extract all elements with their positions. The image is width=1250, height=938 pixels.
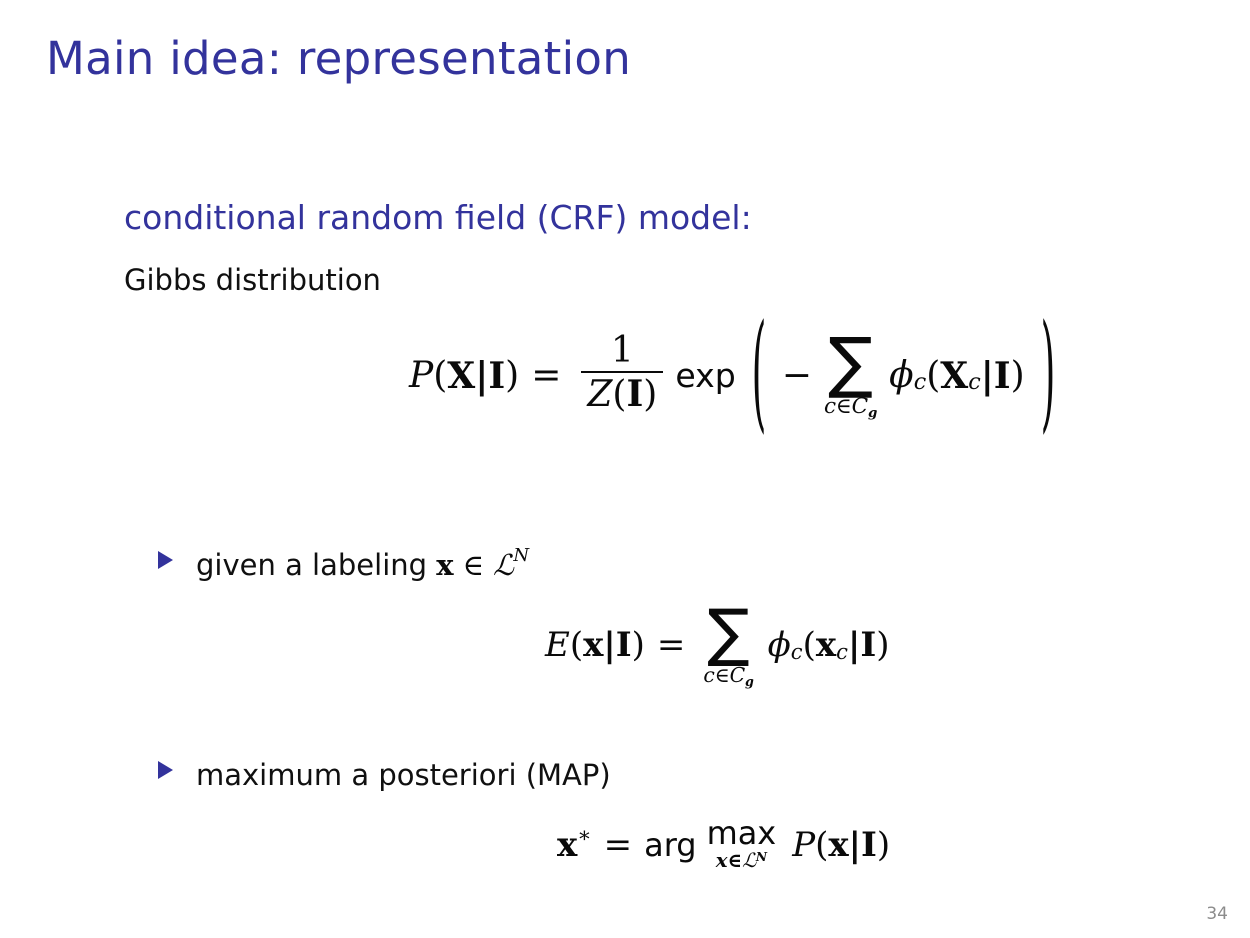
- symbol-X: X: [940, 355, 968, 397]
- arg-operator: arg: [644, 826, 696, 864]
- symbol-Z: Z: [587, 374, 612, 415]
- symbol-I: I: [861, 825, 877, 865]
- paren-close: ): [632, 625, 645, 665]
- equals-sign: =: [604, 825, 633, 865]
- big-paren-open: (: [751, 312, 766, 440]
- symbol-x: x: [816, 625, 836, 665]
- paren-close: ): [877, 825, 890, 865]
- symbol-I: I: [626, 373, 643, 415]
- symbol-x: x: [583, 625, 603, 665]
- bullet-label: maximum a posteriori (MAP): [196, 758, 611, 792]
- summation-operator: ∑ c∈Cg: [703, 604, 753, 687]
- list-item: given a labeling x ∈ ℒ N: [158, 548, 529, 582]
- summation-limit: c∈Cg: [824, 394, 877, 419]
- page-title: Main idea: representation: [46, 34, 631, 84]
- section-heading: conditional random field (CRF) model:: [124, 198, 752, 237]
- max-limit: x∈ℒN: [716, 848, 767, 872]
- equation-energy: E ( x | I ) = ∑ c∈Cg ϕ c ( x c | I ): [545, 604, 890, 687]
- star-superscript: ∗: [577, 822, 591, 847]
- section-subheading: Gibbs distribution: [124, 263, 381, 297]
- phi-subscript: c: [914, 369, 927, 395]
- symbol-I: I: [488, 355, 505, 397]
- summation-limit: c∈Cg: [703, 663, 753, 687]
- paren-close: ): [876, 625, 889, 665]
- big-paren-close: ): [1040, 312, 1055, 440]
- symbol-X: X: [447, 355, 475, 397]
- paren-open: (: [803, 625, 816, 665]
- conditional-bar: |: [849, 825, 861, 865]
- conditional-bar: |: [848, 625, 860, 665]
- equals-sign: =: [531, 355, 561, 396]
- sigma-icon: ∑: [828, 332, 873, 393]
- symbol-x: x: [557, 825, 577, 865]
- L-superscript-N: N: [513, 545, 529, 566]
- conditional-bar: |: [981, 355, 994, 397]
- symbol-I: I: [616, 625, 632, 665]
- bullet-label: given a labeling: [196, 548, 436, 582]
- page-number: 34: [1206, 904, 1228, 924]
- equals-sign: =: [657, 625, 686, 665]
- symbol-E: E: [545, 625, 570, 665]
- X-subscript: c: [968, 369, 981, 395]
- equation-gibbs-distribution: P ( X | I ) = 1 Z(I) exp ( − ∑ c∈Cg ϕ c …: [409, 332, 1071, 419]
- conditional-bar: |: [475, 355, 488, 397]
- x-subscript: c: [836, 639, 848, 664]
- sigma-icon: ∑: [707, 604, 749, 662]
- summation-operator: ∑ c∈Cg: [824, 332, 877, 419]
- symbol-P: P: [792, 825, 815, 865]
- element-of-sign: ∈: [463, 548, 484, 582]
- slide: Main idea: representation conditional ra…: [0, 0, 1250, 938]
- symbol-x: x: [828, 825, 848, 865]
- fraction-one-over-Z: 1 Z(I): [581, 333, 663, 414]
- fraction-denominator: Z(I): [581, 371, 663, 414]
- symbol-I: I: [860, 625, 876, 665]
- inline-math-labeling-space: x ∈ ℒ N: [436, 548, 529, 582]
- symbol-I: I: [994, 355, 1011, 397]
- max-operator-with-limit: max x∈ℒN: [707, 818, 777, 872]
- exp-operator: exp: [675, 356, 735, 395]
- max-operator: max: [707, 818, 777, 850]
- minus-sign: −: [782, 355, 812, 396]
- equation-map: x ∗ = arg max x∈ℒN P ( x | I ): [557, 818, 890, 872]
- symbol-script-L: ℒ: [493, 548, 513, 582]
- symbol-phi: ϕ: [768, 625, 791, 665]
- paren-open: (: [815, 825, 828, 865]
- paren-close: ): [1011, 355, 1025, 396]
- conditional-bar: |: [603, 625, 615, 665]
- paren-open: (: [926, 355, 940, 396]
- symbol-phi: ϕ: [889, 355, 914, 396]
- triangle-right-icon: [158, 551, 173, 569]
- list-item: maximum a posteriori (MAP): [158, 758, 611, 792]
- paren-close: ): [505, 355, 519, 396]
- symbol-P: P: [409, 355, 433, 396]
- symbol-x: x: [436, 548, 453, 582]
- triangle-right-icon: [158, 761, 173, 779]
- paren-open: (: [570, 625, 583, 665]
- fraction-numerator: 1: [605, 333, 640, 371]
- phi-subscript: c: [791, 639, 803, 664]
- paren-open: (: [433, 355, 447, 396]
